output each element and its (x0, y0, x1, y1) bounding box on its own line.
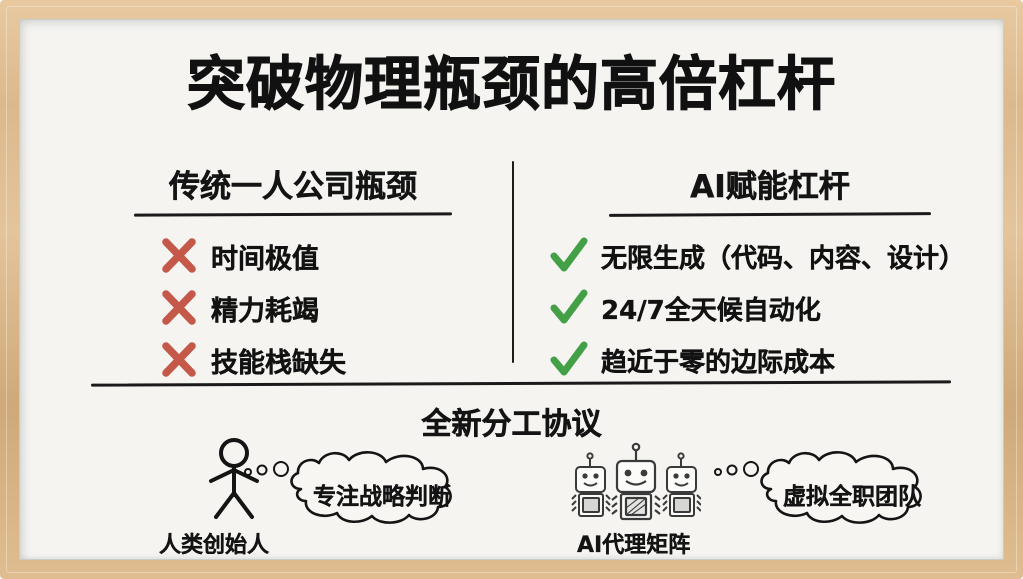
bottleneck-item-list: 时间极值 精力耗竭 技能栈缺失 (159, 230, 493, 386)
check-mark-icon (549, 236, 589, 276)
leverage-column: AI赋能杠杆 无限生成（代码、内容、设计） 24/7全天候自动化 (535, 161, 1004, 386)
page-title: 突破物理瓶颈的高倍杠杆 (19, 37, 1004, 121)
ai-agent-caption: AI代理矩阵 (577, 527, 690, 559)
list-item-label: 精力耗竭 (211, 289, 319, 328)
robot-trio-icon (571, 437, 701, 523)
list-item[interactable]: 无限生成（代码、内容、设计） (549, 230, 1004, 282)
ai-thought-bubble: 虚拟全职团队 (711, 445, 991, 530)
leverage-column-heading: AI赋能杠杆 (535, 161, 1004, 206)
column-divider (512, 161, 514, 363)
list-item-label: 24/7全天候自动化 (601, 290, 821, 327)
board-surface: 突破物理瓶颈的高倍杠杆 传统一人公司瓶颈 时间极值 (19, 19, 1004, 560)
check-mark-icon (549, 288, 589, 328)
list-item[interactable]: 时间极值 (159, 230, 493, 282)
human-thought-text: 专注战略判断 (313, 477, 451, 511)
ai-thought-text: 虚拟全职团队 (783, 477, 921, 511)
human-founder-caption: 人类创始人 (159, 527, 269, 559)
list-item-label: 技能栈缺失 (211, 341, 346, 380)
list-item[interactable]: 技能栈缺失 (159, 334, 493, 386)
leverage-heading-underline (609, 212, 931, 217)
bottom-section-heading: 全新分工协议 (19, 399, 1004, 443)
list-item-label: 时间极值 (211, 237, 319, 276)
list-item[interactable]: 趋近于零的边际成本 (549, 334, 1004, 386)
bottleneck-column-heading: 传统一人公司瓶颈 (93, 161, 493, 206)
human-thought-bubble: 专注战略判断 (241, 445, 521, 530)
list-item-label: 趋近于零的边际成本 (601, 342, 835, 379)
list-item-label: 无限生成（代码、内容、设计） (601, 238, 965, 275)
cross-mark-icon (159, 288, 199, 328)
leverage-item-list: 无限生成（代码、内容、设计） 24/7全天候自动化 趋近于零的边际成本 (549, 230, 1004, 386)
cross-mark-icon (159, 340, 199, 380)
check-mark-icon (549, 340, 589, 380)
bottleneck-heading-underline (134, 212, 452, 216)
bottleneck-column: 传统一人公司瓶颈 时间极值 精力耗竭 (93, 161, 493, 386)
list-item[interactable]: 24/7全天候自动化 (549, 282, 1004, 334)
list-item[interactable]: 精力耗竭 (159, 282, 493, 334)
whiteboard-frame: 突破物理瓶颈的高倍杠杆 传统一人公司瓶颈 时间极值 (0, 0, 1023, 579)
cross-mark-icon (159, 236, 199, 276)
